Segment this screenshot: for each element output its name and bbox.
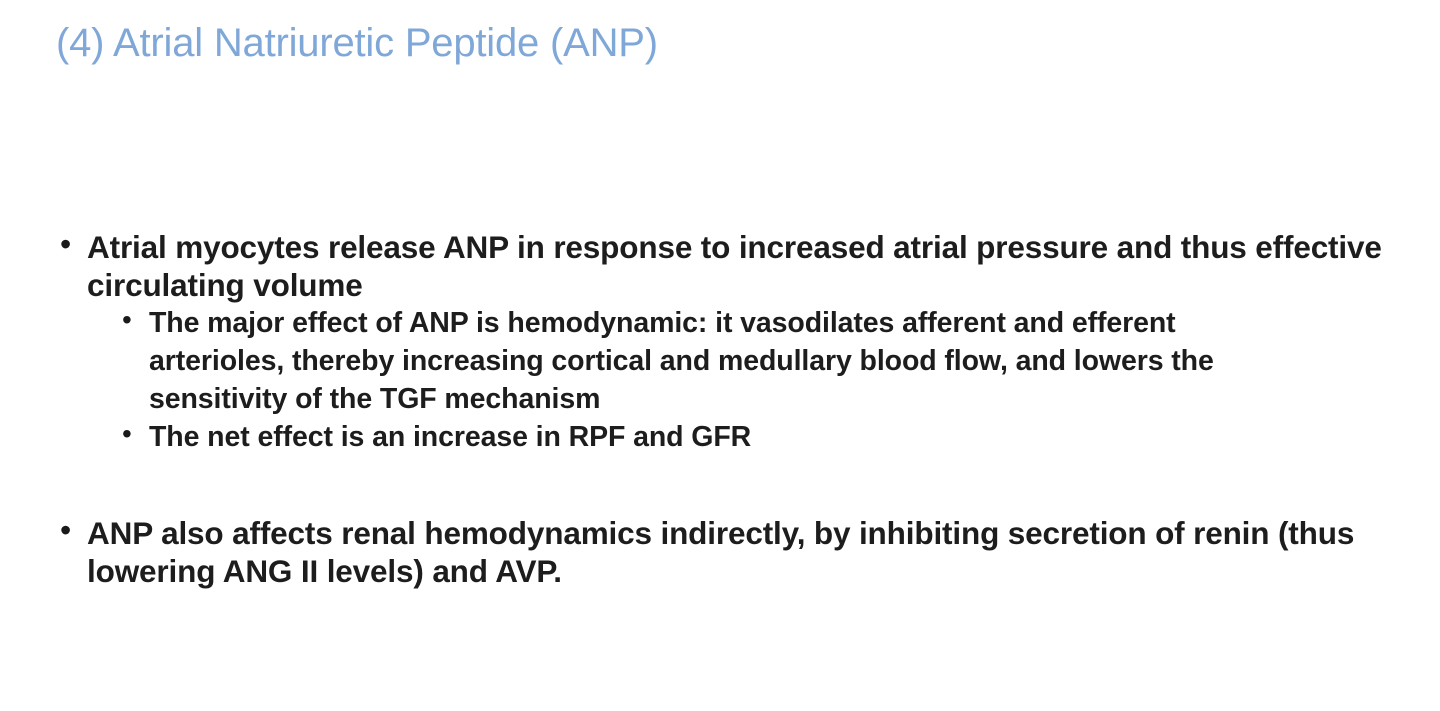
sub-bullet-text-2: The net effect is an increase in RPF and… [149,418,1309,456]
bullet-dot-icon: • [56,514,87,552]
page-title: (4) Atrial Natriuretic Peptide (ANP) [56,18,1386,68]
slide-body: • Atrial myocytes release ANP in respons… [56,228,1396,590]
bullet-dot-icon: • [118,418,149,456]
slide-canvas: (4) Atrial Natriuretic Peptide (ANP) • A… [0,0,1440,711]
sub-bullet-group: • The major effect of ANP is hemodynamic… [118,304,1396,456]
bullet-dot-icon: • [118,304,149,342]
bullet-dot-icon: • [56,228,87,266]
sub-bullet-item-1: • The major effect of ANP is hemodynamic… [118,304,1396,418]
bullet-item-2: • ANP also affects renal hemodynamics in… [56,514,1396,590]
bullet-text-2: ANP also affects renal hemodynamics indi… [87,514,1396,590]
sub-bullet-text-1: The major effect of ANP is hemodynamic: … [149,304,1309,418]
blank-line-spacer [56,456,1396,494]
sub-bullet-item-2: • The net effect is an increase in RPF a… [118,418,1396,456]
bullet-text-1: Atrial myocytes release ANP in response … [87,228,1396,304]
bullet-item-1: • Atrial myocytes release ANP in respons… [56,228,1396,304]
blank-line-spacer-half [56,494,1396,514]
